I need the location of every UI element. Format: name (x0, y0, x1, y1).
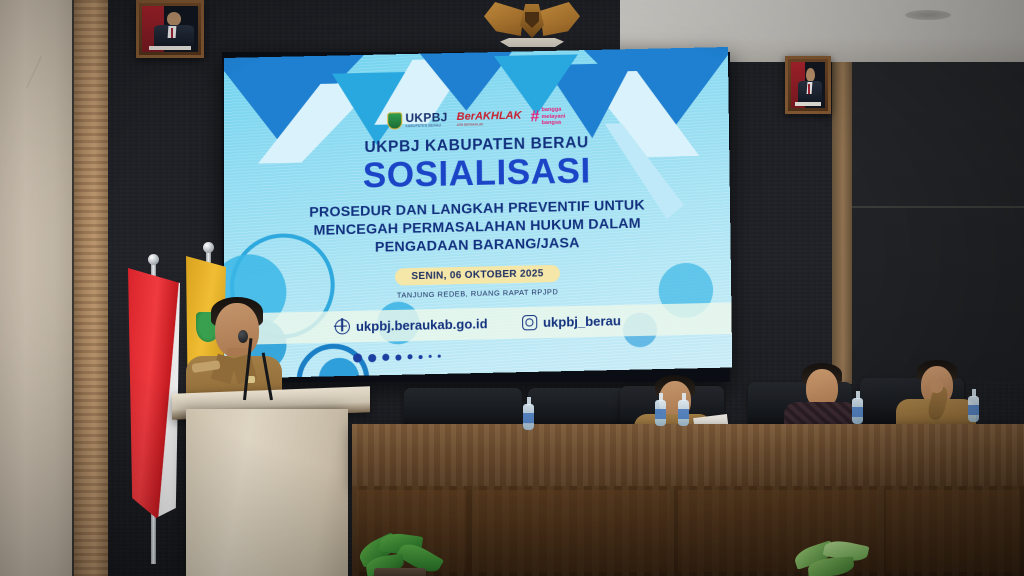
bottle-label (678, 409, 689, 419)
garuda-wing-right (540, 2, 580, 36)
website-label: ukpbj.beraukab.go.id (356, 316, 488, 334)
ceiling-light (905, 10, 951, 20)
speaker-podium (186, 409, 348, 576)
wall-seam-mid (850, 206, 1024, 208)
table-front-panel-4 (886, 490, 1020, 572)
microphone-head (238, 330, 248, 343)
contact-bar: ukpbj.beraukab.go.id ukpbj_berau (224, 302, 732, 345)
berakhlak-logo-text: BerAKHLAK (457, 110, 522, 122)
wood-column (74, 0, 108, 576)
ukpbj-logo-subtext: KABUPATEN BERAU (405, 123, 447, 128)
seminar-photo-scene: UKPBJ KABUPATEN BERAU BerAKHLAK ASN BERA… (0, 0, 1024, 576)
portrait-head (167, 12, 182, 26)
berakhlak-logo-subtext: ASN BERAKHLAK (457, 121, 522, 126)
wood-grain (74, 0, 108, 576)
presentation-slide: UKPBJ KABUPATEN BERAU BerAKHLAK ASN BERA… (224, 47, 732, 379)
bottle-label (655, 409, 666, 419)
berau-crest-icon (387, 112, 402, 129)
flagpole-finial-left (148, 254, 159, 265)
instagram-contact: ukpbj_berau (522, 313, 621, 330)
water-bottle-2 (678, 400, 689, 426)
table-wood-grain (352, 424, 1024, 486)
flagpole-finial-right (203, 242, 214, 253)
pillar-crack (8, 56, 64, 88)
bottle-label (523, 413, 534, 423)
website-contact: ukpbj.beraukab.go.id (335, 316, 488, 335)
table-front-panel-2 (474, 490, 670, 572)
portrait-mat (142, 6, 198, 52)
slide-headline: SOSIALISASI (363, 153, 591, 193)
bangga-line-3: bangsa (541, 120, 565, 127)
plant-pot (374, 568, 426, 576)
berakhlak-logo: BerAKHLAK ASN BERAKHLAK (457, 110, 522, 126)
right-wood-trim (832, 44, 852, 384)
bottle-label (968, 405, 979, 415)
hash-icon: # (530, 109, 539, 125)
water-bottle-4 (968, 396, 979, 422)
ukpbj-logo: UKPBJ KABUPATEN BERAU (387, 111, 447, 129)
logo-strip: UKPBJ KABUPATEN BERAU BerAKHLAK ASN BERA… (387, 108, 565, 130)
garuda-pancasila-emblem (484, 0, 580, 52)
portrait-tie (808, 84, 810, 94)
portrait-tie (171, 28, 174, 38)
water-bottle-1 (655, 400, 666, 426)
ukpbj-logo-text: UKPBJ (405, 111, 447, 124)
official-portrait-left (136, 0, 204, 58)
portrait-head (806, 68, 815, 82)
bottle-label (852, 407, 863, 417)
right-wall-panel (840, 52, 1024, 382)
projection-screen: UKPBJ KABUPATEN BERAU BerAKHLAK ASN BERA… (222, 52, 730, 382)
garuda-ribbon (500, 38, 564, 47)
panel-table-top (352, 424, 1024, 486)
water-bottle-3 (852, 398, 863, 424)
globe-icon (335, 319, 350, 335)
bangga-melayani-bangsa-logo: # bangga melayani bangsa (530, 107, 565, 127)
water-bottle-5 (523, 404, 534, 430)
portrait-nameplate (795, 102, 821, 107)
instagram-icon (522, 314, 537, 330)
foreground-plant-right (790, 540, 886, 576)
panelist-right-hand (930, 380, 943, 393)
event-venue-text: TANJUNG REDEB, RUANG RAPAT RPJPD (397, 287, 558, 300)
official-portrait-right (785, 56, 831, 114)
foreground-plant-left (352, 532, 448, 576)
panel-table-front (352, 486, 1024, 576)
portrait-nameplate (149, 46, 192, 51)
event-date-badge: SENIN, 06 OKTOBER 2025 (395, 264, 560, 285)
slide-subtitle: PROSEDUR DAN LANGKAH PREVENTIF UNTUK MEN… (309, 196, 645, 258)
garuda-wing-left (484, 2, 524, 36)
left-pillar (0, 0, 72, 576)
instagram-label: ukpbj_berau (543, 313, 621, 330)
portrait-mat (791, 62, 825, 108)
